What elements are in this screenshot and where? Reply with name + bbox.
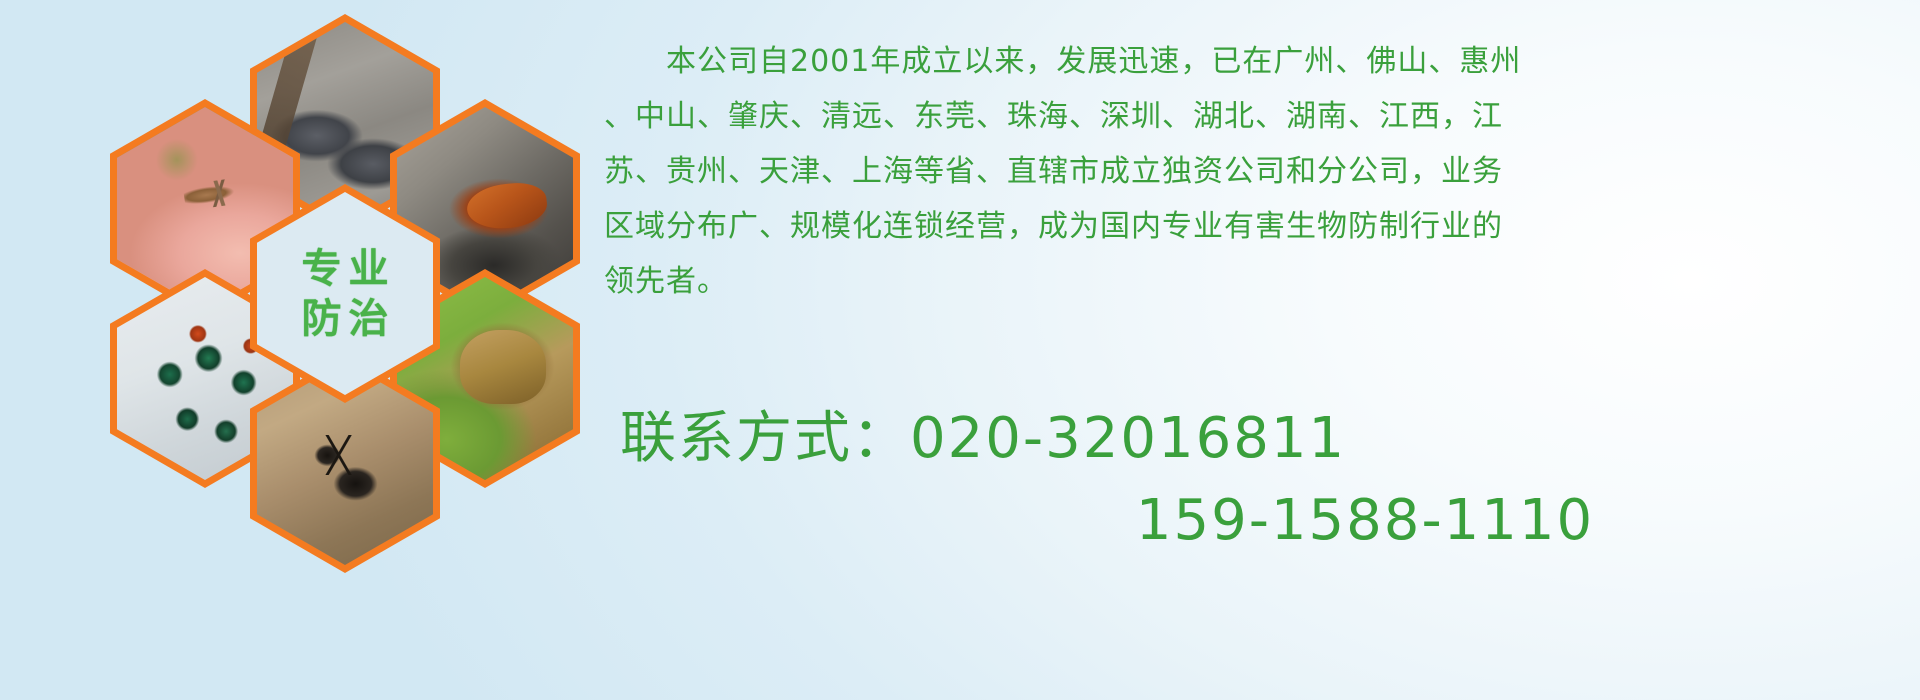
slogan-text: 专业 防治 bbox=[257, 192, 433, 395]
intro-line-1-text: 本公司自2001年成立以来，发展迅速，已在广州、佛山、惠州 bbox=[666, 44, 1521, 79]
contact-secondary-line: 159-1588-1110 bbox=[620, 480, 1910, 562]
honeycomb-cluster: 专业 防治 bbox=[86, 6, 606, 566]
banner: 专业 防治 本公司自2001年成立以来，发展迅速，已在广州、佛山、惠州 、中山、… bbox=[0, 0, 1920, 700]
phone-primary[interactable]: 020-32016811 bbox=[910, 406, 1346, 471]
intro-line-5: 领先者。 bbox=[604, 254, 1884, 309]
intro-line-2: 、中山、肇庆、清远、东莞、珠海、深圳、湖北、湖南、江西，江 bbox=[604, 89, 1884, 144]
intro-line-4: 区域分布广、规模化连锁经营，成为国内专业有害生物防制行业的 bbox=[604, 199, 1884, 254]
intro-paragraph: 本公司自2001年成立以来，发展迅速，已在广州、佛山、惠州 、中山、肇庆、清远、… bbox=[604, 34, 1884, 309]
phone-secondary[interactable]: 159-1588-1110 bbox=[1136, 488, 1594, 553]
contact-primary-line: 联系方式：020-32016811 bbox=[620, 398, 1910, 480]
hex-inner: 专业 防治 bbox=[257, 192, 433, 395]
intro-line-1: 本公司自2001年成立以来，发展迅速，已在广州、佛山、惠州 bbox=[604, 34, 1884, 89]
slogan-line-2: 防治 bbox=[295, 299, 396, 339]
contact-block: 联系方式：020-32016811 159-1588-1110 bbox=[620, 398, 1910, 562]
contact-label: 联系方式： bbox=[620, 406, 910, 471]
intro-line-3: 苏、贵州、天津、上海等省、直辖市成立独资公司和分公司，业务 bbox=[604, 144, 1884, 199]
slogan-line-1: 专业 bbox=[295, 249, 396, 289]
